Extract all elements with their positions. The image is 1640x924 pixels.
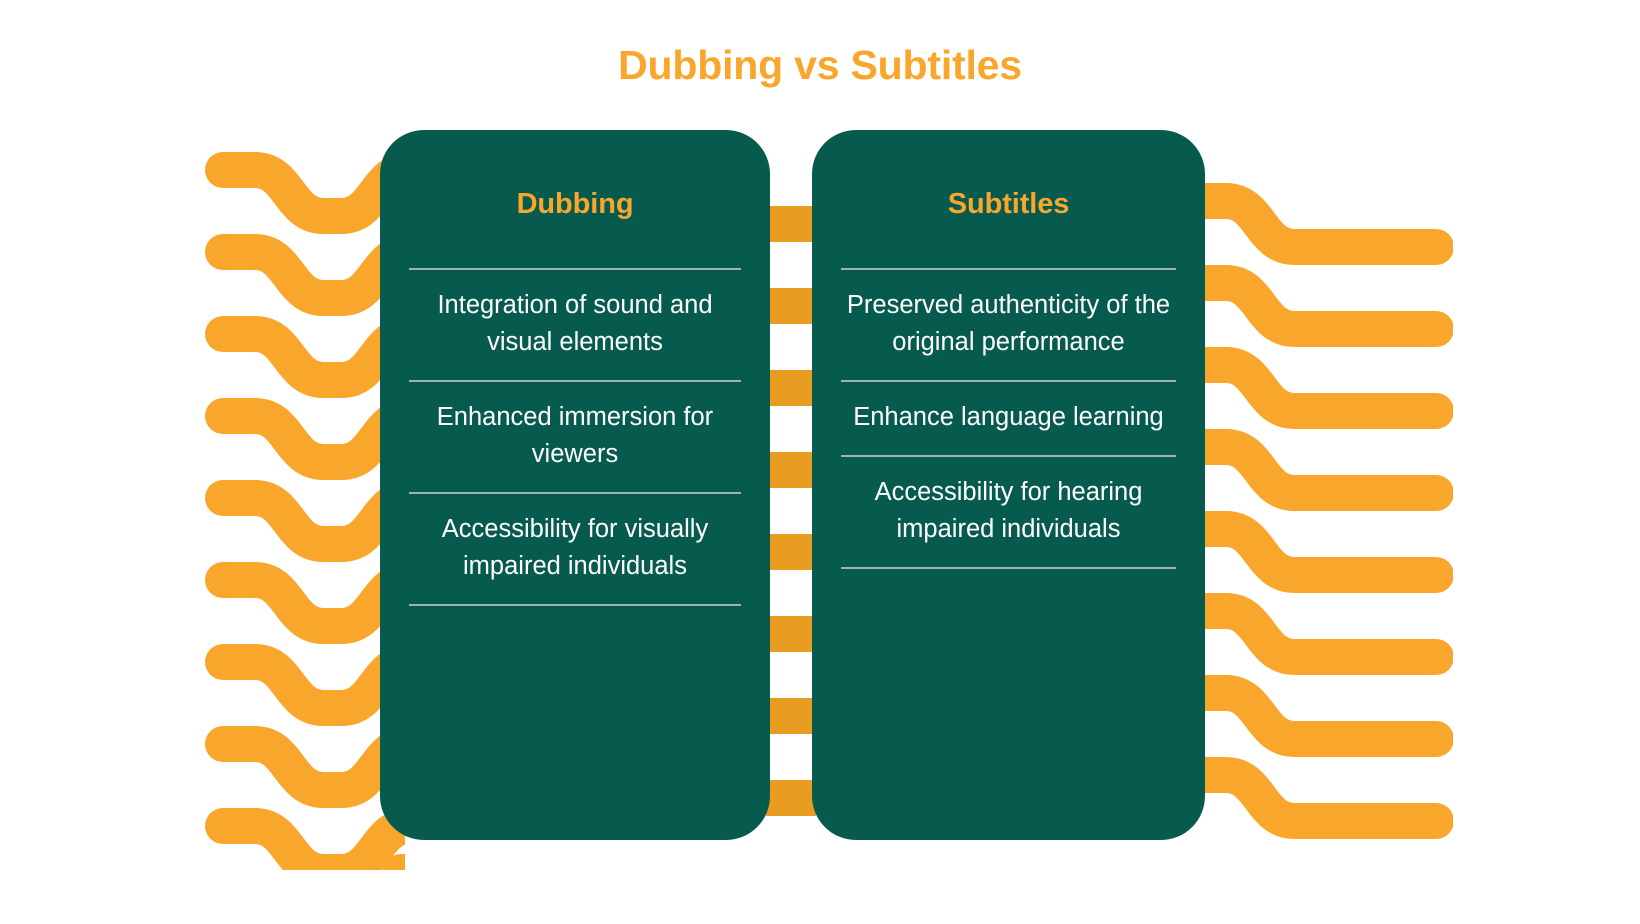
card-title-subtitles: Subtitles: [840, 188, 1177, 221]
feature-list-dubbing: Integration of sound and visual elements…: [408, 268, 742, 606]
page-title: Dubbing vs Subtitles: [0, 42, 1640, 89]
gap-stripe: [766, 780, 816, 816]
gap-stripe: [766, 288, 816, 324]
feature-item: Enhance language learning: [840, 382, 1177, 455]
gap-stripe-band: [766, 150, 816, 850]
feature-list-subtitles: Preserved authenticity of the original p…: [840, 268, 1177, 569]
card-title-dubbing: Dubbing: [408, 188, 742, 221]
feature-item: Integration of sound and visual elements: [408, 270, 742, 380]
gap-stripe: [766, 534, 816, 570]
comparison-card-subtitles: Subtitles Preserved authenticity of the …: [812, 130, 1205, 840]
comparison-card-dubbing: Dubbing Integration of sound and visual …: [380, 130, 770, 840]
divider: [409, 604, 741, 606]
feature-item: Accessibility for hearing impaired indiv…: [840, 457, 1177, 567]
feature-item: Preserved authenticity of the original p…: [840, 270, 1177, 380]
gap-stripe: [766, 370, 816, 406]
feature-item: Accessibility for visually impaired indi…: [408, 494, 742, 604]
decorative-wave-pattern-left: [205, 150, 405, 870]
decorative-wave-pattern-right: [1178, 183, 1453, 843]
gap-stripe: [766, 698, 816, 734]
infographic-canvas: Dubbing vs Subtitles Dubbing Integration…: [0, 0, 1640, 924]
gap-stripe: [766, 452, 816, 488]
gap-stripe: [766, 206, 816, 242]
feature-item: Enhanced immersion for viewers: [408, 382, 742, 492]
divider: [841, 567, 1176, 569]
gap-stripe: [766, 616, 816, 652]
